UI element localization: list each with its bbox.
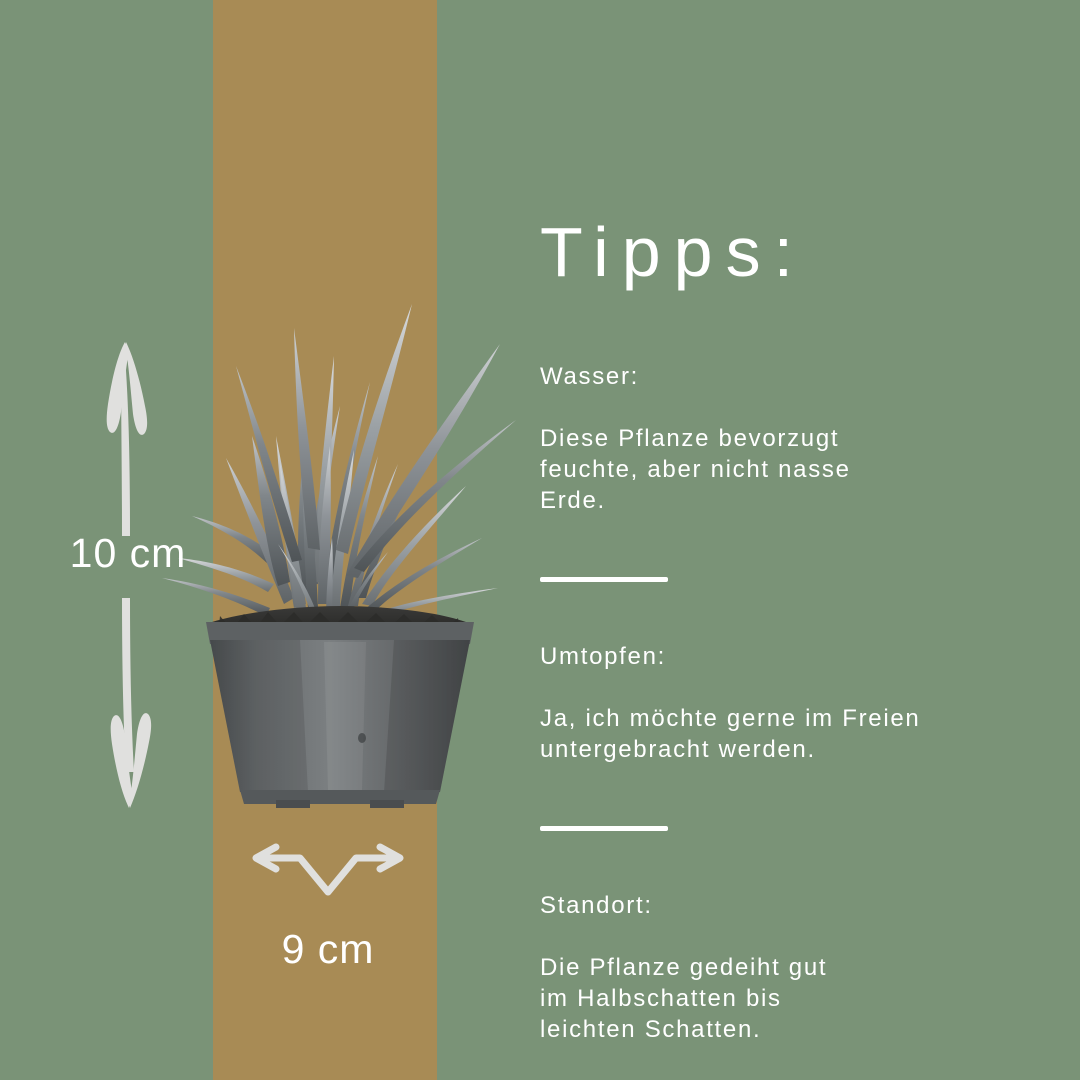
tips-panel: Tipps: Wasser: Diese Pflanze bevorzugt f… xyxy=(540,210,1040,1076)
tip-section-wasser: Wasser: Diese Pflanze bevorzugt feuchte,… xyxy=(540,330,1040,547)
tip-section-standort: Standort: Die Pflanze gedeiht gut im Hal… xyxy=(540,859,1040,1076)
tip-heading-umtopfen: Umtopfen: xyxy=(540,641,1040,672)
tip-heading-standort: Standort: xyxy=(540,890,1040,921)
tip-divider-1 xyxy=(540,577,668,582)
tip-body-umtopfen: Ja, ich möchte gerne im Freien untergebr… xyxy=(540,703,1040,765)
height-label: 10 cm xyxy=(38,528,218,578)
tip-divider-2 xyxy=(540,826,668,831)
tip-section-umtopfen: Umtopfen: Ja, ich möchte gerne im Freien… xyxy=(540,610,1040,796)
background-band-gold xyxy=(213,0,437,1080)
tip-heading-wasser: Wasser: xyxy=(540,361,1040,392)
width-measure-arrow xyxy=(238,840,418,902)
infographic-canvas: 10 cm 9 cm Tipps: Wasser: Diese Pflanze … xyxy=(0,0,1080,1080)
double-headed-horizontal-arrow-icon xyxy=(256,847,400,892)
tips-title: Tipps: xyxy=(540,210,1040,294)
tip-body-standort: Die Pflanze gedeiht gut im Halbschatten … xyxy=(540,952,1040,1045)
tip-body-wasser: Diese Pflanze bevorzugt feuchte, aber ni… xyxy=(540,423,1040,516)
width-label: 9 cm xyxy=(238,924,418,974)
